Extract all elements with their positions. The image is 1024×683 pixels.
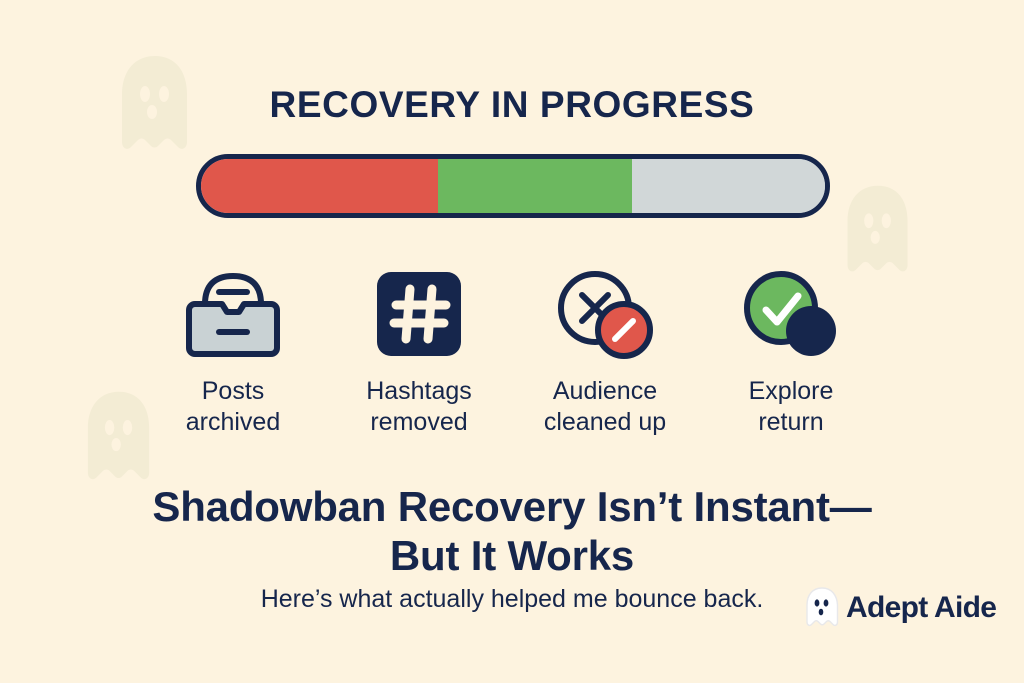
step-explore-return: Explore return	[698, 266, 884, 437]
ghost-watermark-icon	[838, 182, 918, 278]
footer-headline: Shadowban Recovery Isn’t Instant— But It…	[0, 482, 1024, 580]
brand-logo: Adept Aide	[803, 586, 996, 630]
progress-segment-red	[201, 159, 438, 213]
step-label: Posts archived	[186, 376, 281, 437]
archive-box-icon	[181, 266, 285, 362]
check-circle-icon	[741, 266, 841, 362]
step-label: Audience cleaned up	[544, 376, 666, 437]
brand-name: Adept Aide	[846, 593, 996, 623]
step-posts-archived: Posts archived	[140, 266, 326, 437]
step-label: Explore return	[749, 376, 834, 437]
step-audience-cleaned: Audience cleaned up	[512, 266, 698, 437]
audience-blocked-icon	[555, 266, 655, 362]
infographic-canvas: RECOVERY IN PROGRESS Posts archived	[0, 0, 1024, 683]
progress-segment-gray	[632, 159, 825, 213]
progress-segment-green	[438, 159, 631, 213]
step-label: Hashtags removed	[366, 376, 472, 437]
page-title: RECOVERY IN PROGRESS	[0, 86, 1024, 123]
hashtag-icon	[377, 266, 461, 362]
recovery-progress-bar	[196, 154, 830, 218]
ghost-logo-icon	[803, 586, 841, 630]
recovery-steps-row: Posts archived Hashtags removed Audi	[140, 266, 884, 437]
step-hashtags-removed: Hashtags removed	[326, 266, 512, 437]
